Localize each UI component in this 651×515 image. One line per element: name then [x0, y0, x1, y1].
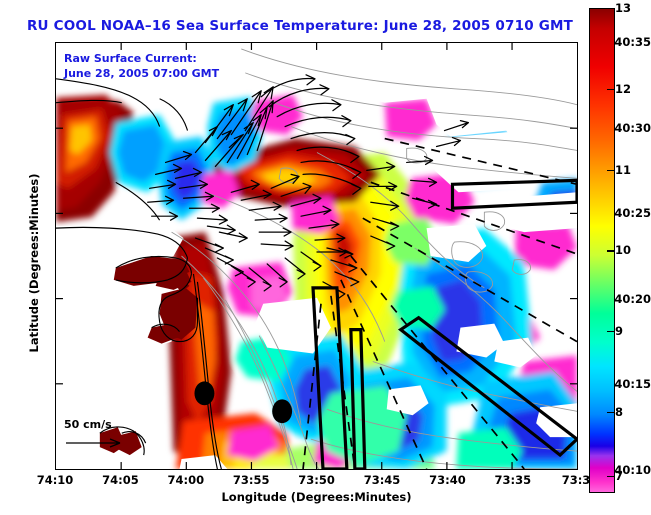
colorbar-tickmark	[607, 8, 614, 9]
colorbar-tickmark	[607, 412, 614, 413]
station-marker[interactable]	[194, 381, 214, 405]
x-tick-label: 73:50	[298, 473, 335, 487]
colorbar-tickmark	[607, 476, 614, 477]
x-tick-label: 73:45	[364, 473, 401, 487]
current-annotation-line1: Raw Surface Current:	[64, 51, 219, 66]
figure-root: RU COOL NOAA–16 Sea Surface Temperature:…	[0, 0, 651, 515]
x-tick-label: 74:10	[37, 473, 74, 487]
scale-bar-label: 50 cm/s	[64, 418, 128, 431]
sst-map-canvas	[56, 43, 577, 469]
colorbar-tick-label: 7	[615, 469, 637, 483]
velocity-scale-bar: 50 cm/s	[64, 418, 128, 453]
map-plot-area: Raw Surface Current: June 28, 2005 07:00…	[55, 42, 578, 470]
figure-title: RU COOL NOAA–16 Sea Surface Temperature:…	[0, 18, 600, 34]
colorbar-tick-label: 12	[615, 82, 637, 96]
x-tick-label: 73:3	[562, 473, 591, 487]
y-axis-title: Latitude (Degrees:Minutes)	[27, 133, 41, 393]
x-tick-label: 74:00	[167, 473, 204, 487]
x-axis-title: Longitude (Degrees:Minutes)	[55, 490, 578, 504]
colorbar-tickmark	[607, 89, 614, 90]
colorbar-tickmark	[607, 170, 614, 171]
colorbar-tickmark	[607, 331, 614, 332]
x-tick-label: 74:05	[102, 473, 139, 487]
colorbar-tick-label: 13	[615, 1, 637, 15]
colorbar-tick-label: 9	[615, 324, 637, 338]
x-tick-label: 73:40	[429, 473, 466, 487]
x-tick-label: 73:55	[233, 473, 270, 487]
station-marker[interactable]	[272, 399, 292, 423]
x-tick-label: 73:35	[494, 473, 531, 487]
colorbar-tick-label: 8	[615, 405, 637, 419]
scale-bar-arrow-icon	[64, 437, 128, 449]
colorbar-tick-label: 11	[615, 163, 637, 177]
current-annotation-line2: June 28, 2005 07:00 GMT	[64, 66, 219, 81]
current-annotation: Raw Surface Current: June 28, 2005 07:00…	[64, 51, 219, 81]
colorbar-tick-label: 10	[615, 243, 637, 257]
colorbar-tickmark	[607, 250, 614, 251]
